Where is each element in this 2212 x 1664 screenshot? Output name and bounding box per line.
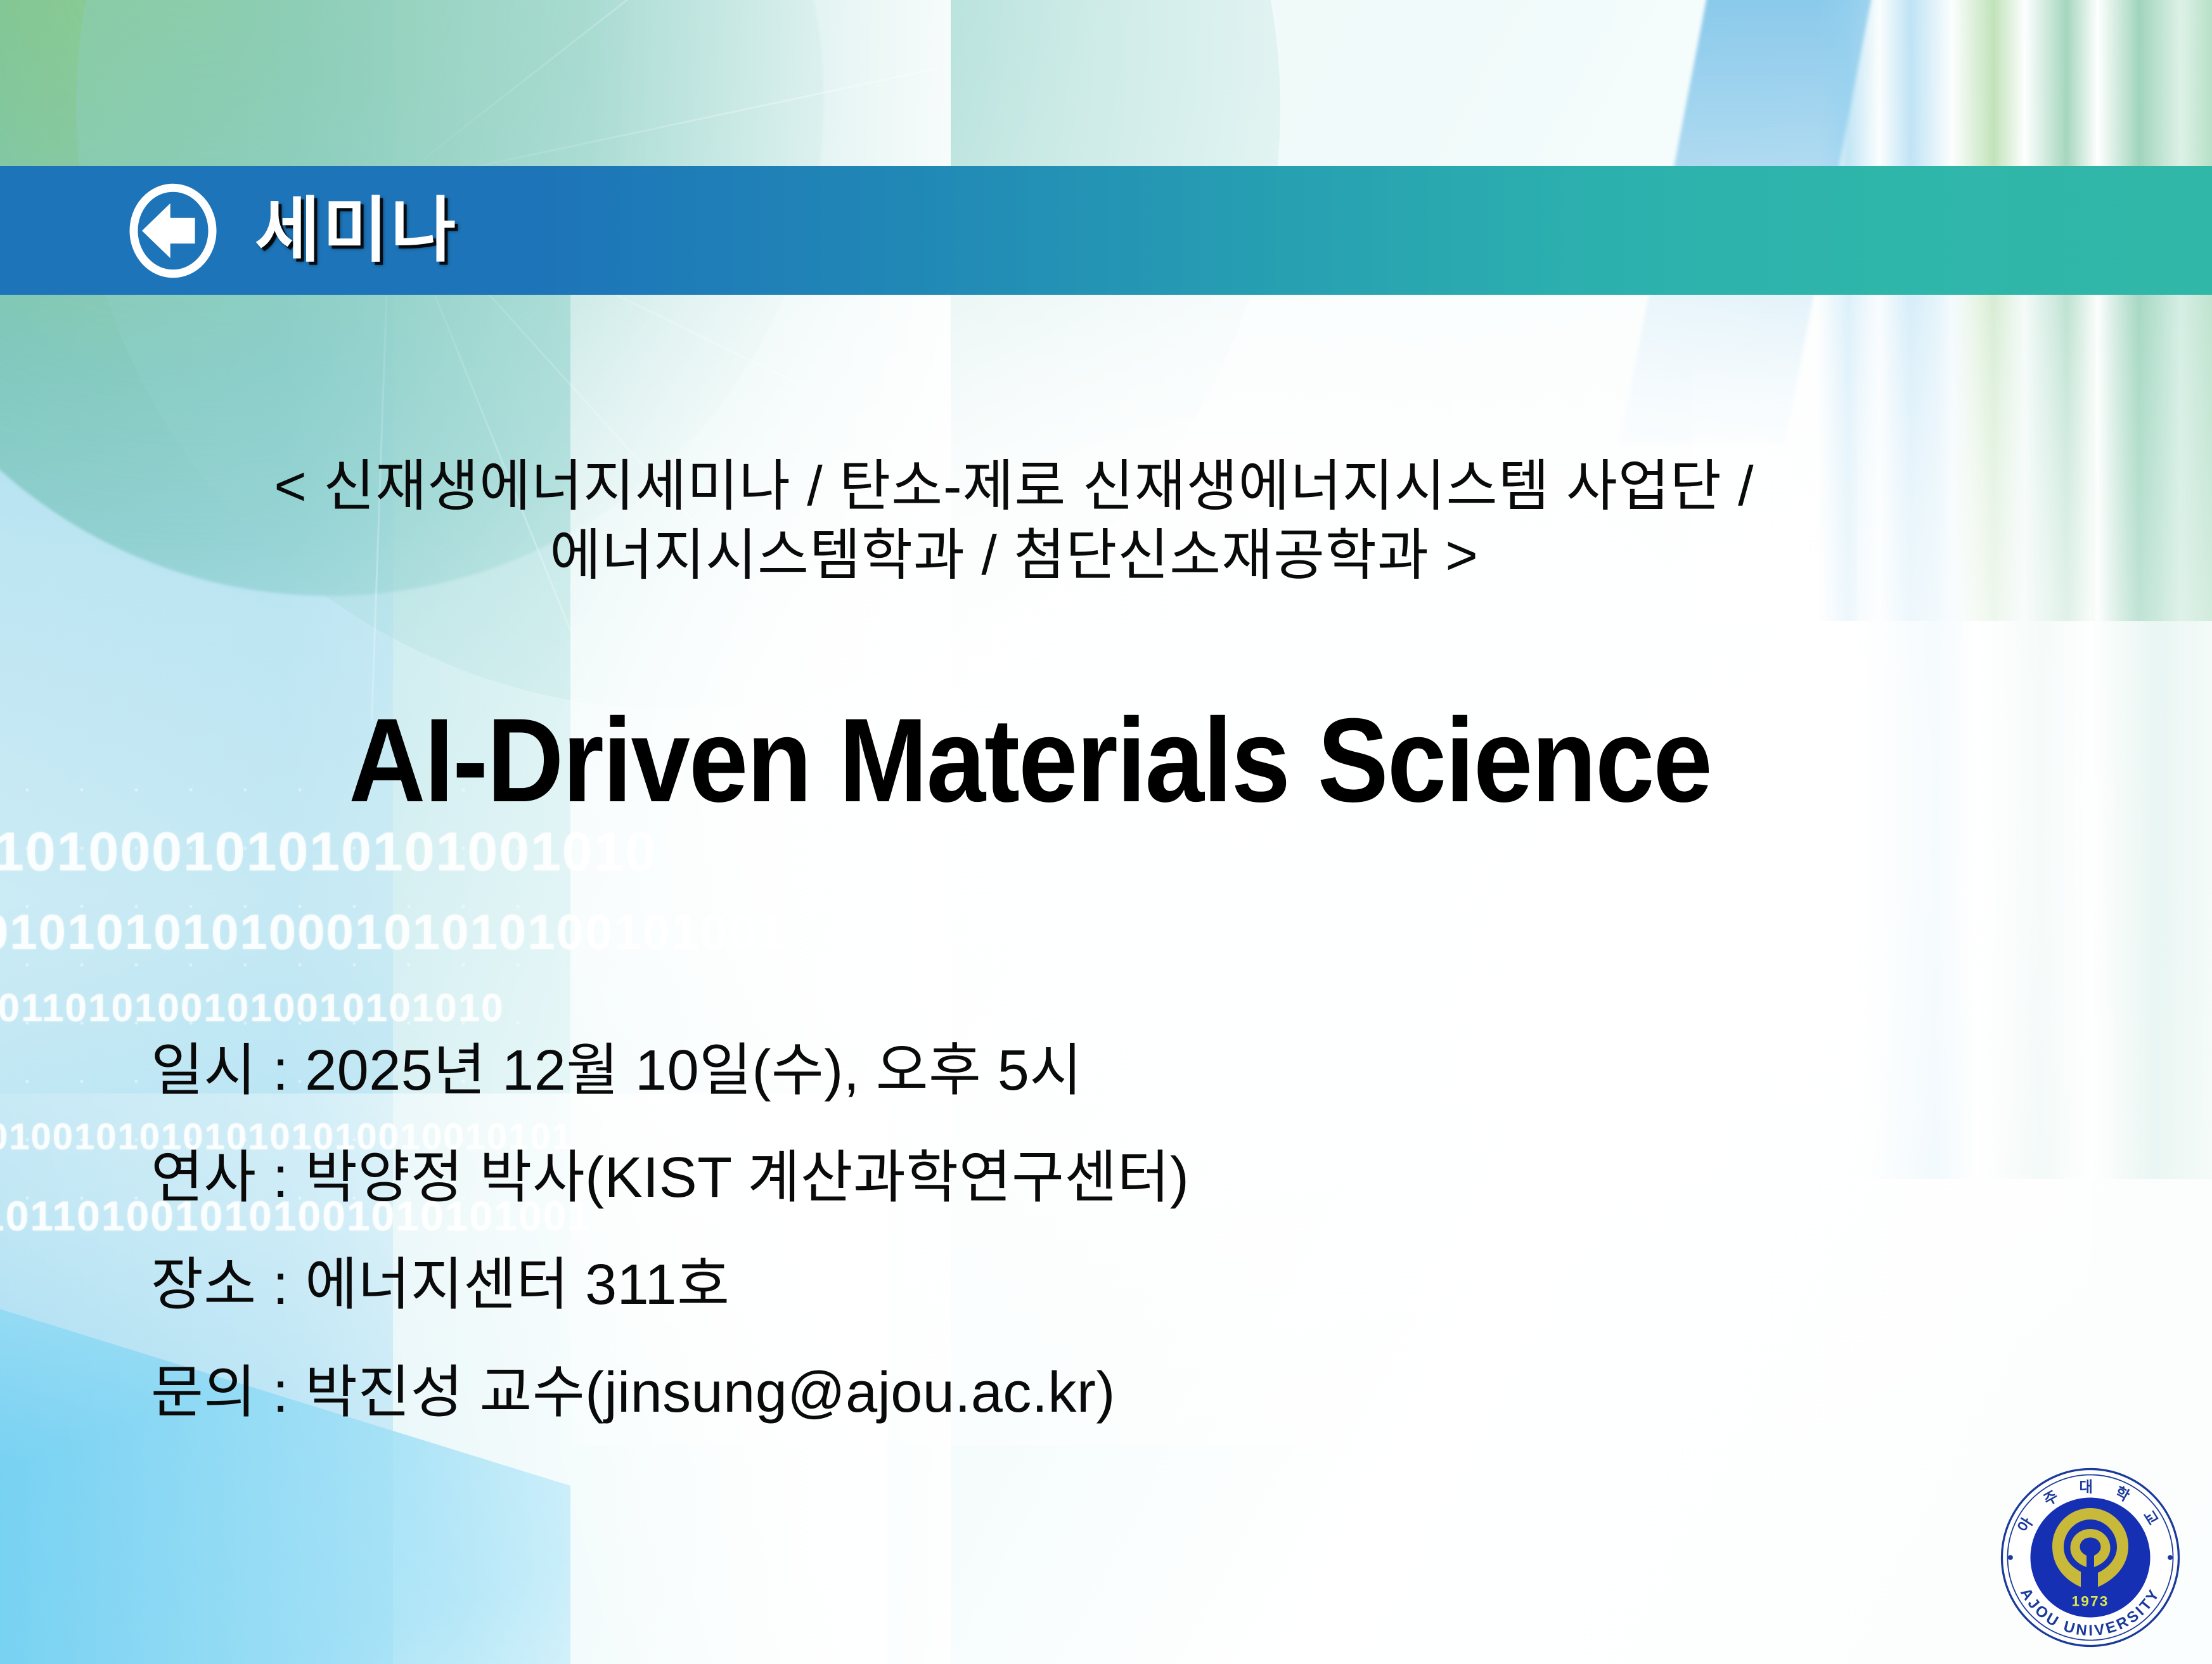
detail-venue: 장소 : 에너지센터 311호 <box>151 1232 1189 1339</box>
detail-datetime: 일시 : 2025년 12월 10일(수), 오후 5시 <box>151 1017 1189 1125</box>
poster-content: < 신재생에너지세미나 / 탄소-제로 신재생에너지시스템 사업단 / 에너지시… <box>0 0 2212 1664</box>
subtitle-line-1: < 신재생에너지세미나 / 탄소-제로 신재생에너지시스템 사업단 / <box>274 455 1754 517</box>
subtitle-block: < 신재생에너지세미나 / 탄소-제로 신재생에너지시스템 사업단 / 에너지시… <box>0 451 2028 590</box>
detail-speaker: 연사 : 박양정 박사(KIST 계산과학연구센터) <box>151 1125 1189 1232</box>
seminar-poster: 1010001010101010010100101010101000101010… <box>0 0 2212 1664</box>
page-title: AI-Driven Materials Science <box>0 700 2060 820</box>
ajou-university-logo: 1973 아 주 대 학 교 AJOU UNIVERSITY <box>1995 1462 2185 1653</box>
detail-contact: 문의 : 박진성 교수(jinsung@ajou.ac.kr) <box>151 1339 1189 1447</box>
details-block: 일시 : 2025년 12월 10일(수), 오후 5시연사 : 박양정 박사(… <box>151 1017 1189 1447</box>
logo-dot-right <box>2168 1555 2173 1560</box>
logo-year: 1973 <box>2071 1594 2109 1609</box>
subtitle-line-2: 에너지시스템학과 / 첨단신소재공학과 > <box>0 520 2028 590</box>
logo-dot-left <box>2008 1555 2013 1560</box>
